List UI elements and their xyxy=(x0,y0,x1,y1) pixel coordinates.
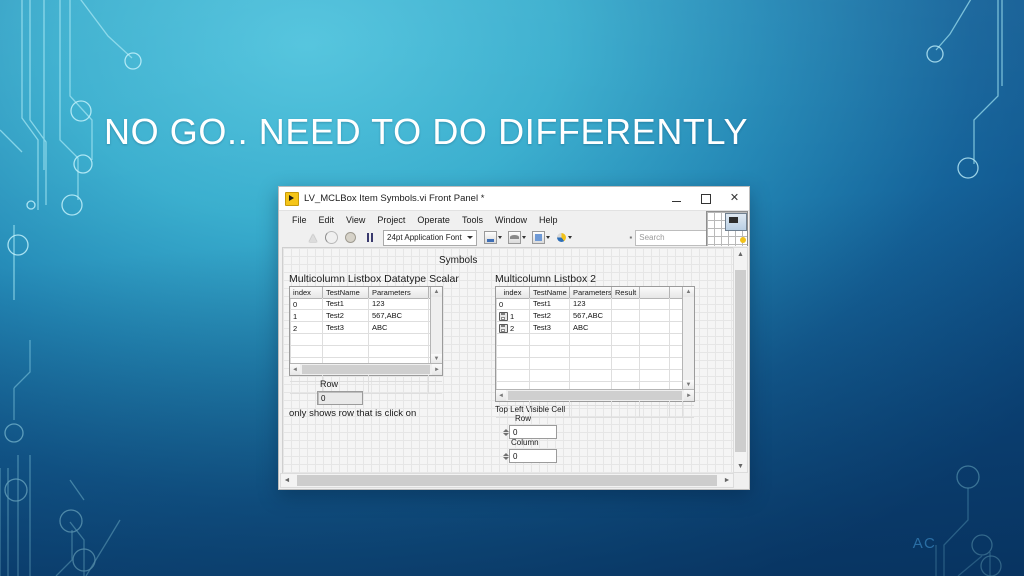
abort-execution-icon[interactable] xyxy=(343,230,358,245)
listbox-2-cell-text: 1 xyxy=(510,312,514,321)
listbox-2-row[interactable] xyxy=(496,358,694,370)
listbox-2-cell[interactable] xyxy=(640,406,670,417)
run-continuously-icon[interactable] xyxy=(324,230,339,245)
listbox-2-row[interactable]: 1Test2567,ABC xyxy=(496,310,694,322)
scroll-down-icon[interactable]: ▼ xyxy=(734,460,747,472)
listbox-2-cell[interactable] xyxy=(612,298,640,309)
scroll-up-icon[interactable]: ▲ xyxy=(734,248,747,260)
listbox-2-cell[interactable]: 123 xyxy=(570,298,612,309)
listbox-2-cell[interactable]: 2 xyxy=(496,322,530,333)
slide-footer-initials: AC xyxy=(913,535,936,552)
pause-icon[interactable] xyxy=(362,230,377,245)
listbox-1-header-testname[interactable]: TestName xyxy=(323,287,369,298)
listbox-2-cell[interactable] xyxy=(640,322,670,333)
row-indicator-label: Row xyxy=(320,379,338,389)
listbox-2-row[interactable]: 0Test1123 xyxy=(496,298,694,310)
panel-horizontal-scrollbar[interactable]: ◄ ► xyxy=(280,473,734,488)
listbox-2-cell[interactable] xyxy=(530,334,570,345)
listbox-1-cell[interactable]: 1 xyxy=(290,310,323,321)
front-panel-area: Symbols Multicolumn Listbox Datatype Sca… xyxy=(279,246,749,489)
listbox-2-cell-text: ABC xyxy=(573,323,588,332)
menu-bar: File Edit View Project Operate Tools Win… xyxy=(279,211,749,228)
presentation-slide: NO GO.. NEED TO DO DIFFERENTLY AC LV_MCL… xyxy=(0,0,1024,576)
listbox-2-cell[interactable] xyxy=(530,346,570,357)
listbox-1-cell[interactable]: 2 xyxy=(290,322,323,333)
listbox-1-horizontal-scrollbar[interactable]: ◄ ► xyxy=(290,363,442,375)
circuit-decoration-right xyxy=(894,0,1024,576)
listbox-2-cell[interactable] xyxy=(496,358,530,369)
scrollbar-corner xyxy=(735,475,748,488)
scroll-thumb[interactable] xyxy=(302,365,430,374)
listbox-2-row[interactable] xyxy=(496,346,694,358)
listbox-2-header-result[interactable]: Result xyxy=(612,287,640,298)
listbox-1-vertical-scrollbar[interactable]: ▲ ▼ xyxy=(430,287,442,364)
listbox-1-row[interactable]: 2Test3ABC xyxy=(290,322,442,334)
listbox-1-header-index[interactable]: index xyxy=(290,287,323,298)
close-icon: ✕ xyxy=(730,193,739,204)
distribute-objects-icon[interactable] xyxy=(508,231,526,244)
tlvc-row-label: Row xyxy=(515,414,531,423)
scroll-left-icon[interactable]: ◄ xyxy=(496,390,506,401)
listbox-2-cell-text: Test1 xyxy=(533,299,551,308)
scroll-thumb[interactable] xyxy=(508,391,682,400)
run-arrow-icon[interactable] xyxy=(305,230,320,245)
multicolumn-listbox-2[interactable]: index TestName Parameters Result 0Test11… xyxy=(495,286,695,402)
listbox-1-cell[interactable] xyxy=(323,334,369,345)
listbox-2-cell[interactable] xyxy=(570,370,612,381)
listbox-1-cell[interactable]: ABC xyxy=(369,322,429,333)
minimize-button[interactable] xyxy=(662,187,691,210)
toolbar: 24pt Application Font ▪ Search ? xyxy=(279,228,749,247)
connector-pane-icon[interactable] xyxy=(706,211,748,247)
menu-operate[interactable]: Operate xyxy=(411,214,456,226)
listbox-1-cell[interactable]: Test3 xyxy=(323,322,369,333)
row-symbol-icon xyxy=(499,312,508,321)
search-pin-icon: ▪ xyxy=(629,233,632,242)
multicolumn-listbox-1[interactable]: index TestName Parameters 0Test11231Test… xyxy=(289,286,443,376)
listbox-2-cell[interactable] xyxy=(496,346,530,357)
listbox-2-cell[interactable] xyxy=(612,370,640,381)
listbox-1-row[interactable]: 1Test2567,ABC xyxy=(290,310,442,322)
window-title: LV_MCLBox Item Symbols.vi Front Panel * xyxy=(304,193,662,204)
labview-vi-icon xyxy=(285,192,299,206)
close-button[interactable]: ✕ xyxy=(720,187,749,210)
listbox-2-cell[interactable] xyxy=(612,334,640,345)
listbox-1-row[interactable] xyxy=(290,346,442,358)
listbox-1-cell[interactable]: 0 xyxy=(290,298,323,309)
row-indicator: 0 xyxy=(317,391,363,405)
listbox-2-row[interactable] xyxy=(496,334,694,346)
note-text: only shows row that is click on xyxy=(289,408,416,419)
row-symbol-icon xyxy=(499,324,508,333)
listbox-1-cell-text: 2 xyxy=(293,324,297,333)
menu-window[interactable]: Window xyxy=(489,214,533,226)
listbox-2-cell-text: 0 xyxy=(499,300,503,309)
scroll-thumb[interactable] xyxy=(735,270,746,452)
reorder-objects-icon[interactable] xyxy=(556,232,572,243)
tlvc-column-control[interactable]: 0 xyxy=(509,449,557,463)
listbox-1-cell[interactable] xyxy=(369,382,429,393)
listbox-2-cell[interactable] xyxy=(612,346,640,357)
listbox-2-cell[interactable] xyxy=(612,406,640,417)
listbox-2-cell[interactable] xyxy=(570,406,612,417)
scroll-thumb[interactable] xyxy=(297,475,717,486)
listbox-2-cell[interactable] xyxy=(640,310,670,321)
listbox-2-cell-text: 2 xyxy=(510,324,514,333)
listbox-2-cell-text: Test2 xyxy=(533,311,551,320)
menu-edit[interactable]: Edit xyxy=(313,214,341,226)
scroll-left-icon[interactable]: ◄ xyxy=(290,364,300,375)
listbox-1-row[interactable]: 0Test1123 xyxy=(290,298,442,310)
scroll-right-icon[interactable]: ► xyxy=(432,364,442,375)
scroll-left-icon[interactable]: ◄ xyxy=(281,474,293,487)
listbox-1-cell-text: ABC xyxy=(372,323,387,332)
listbox-2-cell[interactable]: 567,ABC xyxy=(570,310,612,321)
scroll-right-icon[interactable]: ► xyxy=(721,474,733,487)
font-selector[interactable]: 24pt Application Font xyxy=(383,230,477,246)
listbox-2-cell[interactable] xyxy=(530,406,570,417)
listbox-2-cell[interactable] xyxy=(530,370,570,381)
menu-file[interactable]: File xyxy=(286,214,313,226)
symbols-label: Symbols xyxy=(439,255,477,266)
scroll-up-icon[interactable]: ▲ xyxy=(683,287,694,297)
menu-project[interactable]: Project xyxy=(371,214,411,226)
listbox-2-row[interactable]: 2Test3ABC xyxy=(496,322,694,334)
listbox-2-cell[interactable] xyxy=(640,358,670,369)
listbox-1-cell-text: 0 xyxy=(293,300,297,309)
listbox-2-cell[interactable]: Test3 xyxy=(530,322,570,333)
listbox-2-cell[interactable] xyxy=(612,310,640,321)
tlvc-column-value: 0 xyxy=(510,452,517,461)
row-indicator-value: 0 xyxy=(318,394,325,403)
chevron-down-icon xyxy=(467,236,473,239)
listbox-2-cell[interactable] xyxy=(670,406,683,417)
listbox-2-cell[interactable] xyxy=(570,334,612,345)
listbox-1-cell[interactable] xyxy=(323,346,369,357)
listbox-2-header-testname[interactable]: TestName xyxy=(530,287,570,298)
listbox-2-cell[interactable]: ABC xyxy=(570,322,612,333)
listbox-2-cell[interactable] xyxy=(530,358,570,369)
listbox-1-cell-text: 1 xyxy=(293,312,297,321)
search-placeholder: Search xyxy=(639,233,664,242)
circuit-decoration-left xyxy=(0,0,170,576)
listbox-2-vertical-scrollbar[interactable]: ▲ ▼ xyxy=(682,287,694,390)
window-controls: ✕ xyxy=(662,187,749,210)
listbox-2-cell-text: Test3 xyxy=(533,323,551,332)
listbox-1-cell[interactable] xyxy=(369,346,429,357)
tlvc-column-stepper[interactable] xyxy=(502,450,509,462)
align-objects-icon[interactable] xyxy=(484,231,502,244)
listbox-1-cell[interactable] xyxy=(290,346,323,357)
listbox-1-cell-text: Test1 xyxy=(326,299,344,308)
resize-objects-icon[interactable] xyxy=(532,231,550,244)
listbox-2-cell[interactable]: Test1 xyxy=(530,298,570,309)
font-selector-value: 24pt Application Font xyxy=(387,233,462,242)
listbox-2-cell[interactable] xyxy=(496,370,530,381)
scroll-right-icon[interactable]: ► xyxy=(684,390,694,401)
listbox-2-cell[interactable] xyxy=(496,334,530,345)
listbox-2-horizontal-scrollbar[interactable]: ◄ ► xyxy=(496,389,694,401)
tlvc-row-stepper[interactable] xyxy=(502,426,509,438)
listbox-2-row[interactable] xyxy=(496,370,694,382)
listbox-2-cell[interactable] xyxy=(640,334,670,345)
maximize-button[interactable] xyxy=(691,187,720,210)
listbox-1-cell-text: Test3 xyxy=(326,323,344,332)
listbox-2-header-empty-1[interactable] xyxy=(640,287,670,298)
right-listbox-label: Multicolumn Listbox 2 xyxy=(495,273,596,285)
listbox-1-cell[interactable]: 567,ABC xyxy=(369,310,429,321)
listbox-2-cell[interactable]: Test2 xyxy=(530,310,570,321)
listbox-2-cell[interactable]: 1 xyxy=(496,310,530,321)
listbox-2-cell[interactable] xyxy=(640,370,670,381)
listbox-2-cell[interactable]: 0 xyxy=(496,298,530,309)
listbox-1-cell-text: Test2 xyxy=(326,311,344,320)
listbox-1-cell[interactable]: 123 xyxy=(369,298,429,309)
menu-view[interactable]: View xyxy=(340,214,371,226)
panel-vertical-scrollbar[interactable]: ▲ ▼ xyxy=(733,247,748,473)
front-panel-canvas[interactable]: Symbols Multicolumn Listbox Datatype Sca… xyxy=(282,247,734,474)
listbox-1-cell[interactable]: Test2 xyxy=(323,310,369,321)
listbox-2-cell[interactable] xyxy=(570,346,612,357)
listbox-1-header-parameters[interactable]: Parameters xyxy=(369,287,429,298)
left-listbox-label: Multicolumn Listbox Datatype Scalar xyxy=(289,273,459,285)
listbox-2-cell[interactable] xyxy=(640,346,670,357)
listbox-1-cell[interactable] xyxy=(290,334,323,345)
listbox-2-cell-text: 123 xyxy=(573,299,586,308)
listbox-2-cell[interactable] xyxy=(612,358,640,369)
listbox-1-row[interactable] xyxy=(290,382,442,394)
tlvc-column-label: Column xyxy=(511,438,539,447)
tlvc-row-value: 0 xyxy=(510,428,517,437)
listbox-1-cell-text: 567,ABC xyxy=(372,311,402,320)
scroll-up-icon[interactable]: ▲ xyxy=(431,287,442,297)
window-titlebar[interactable]: LV_MCLBox Item Symbols.vi Front Panel * … xyxy=(279,187,749,211)
page-title: NO GO.. NEED TO DO DIFFERENTLY xyxy=(104,112,864,152)
listbox-1-cell-text: 123 xyxy=(372,299,385,308)
listbox-1-cell[interactable] xyxy=(369,334,429,345)
labview-front-panel-window: LV_MCLBox Item Symbols.vi Front Panel * … xyxy=(278,186,750,490)
menu-help[interactable]: Help xyxy=(533,214,564,226)
listbox-2-cell[interactable] xyxy=(640,298,670,309)
listbox-2-body[interactable]: 0Test11231Test2567,ABC2Test3ABC xyxy=(496,298,694,401)
listbox-2-cell[interactable] xyxy=(612,322,640,333)
menu-tools[interactable]: Tools xyxy=(456,214,489,226)
listbox-1-cell[interactable]: Test1 xyxy=(323,298,369,309)
tlvc-row-control[interactable]: 0 xyxy=(509,425,557,439)
listbox-2-header-parameters[interactable]: Parameters xyxy=(570,287,612,298)
listbox-2-cell-text: 567,ABC xyxy=(573,311,603,320)
listbox-2-header-index[interactable]: index xyxy=(496,287,530,298)
listbox-2-cell[interactable] xyxy=(570,358,612,369)
listbox-1-row[interactable] xyxy=(290,334,442,346)
